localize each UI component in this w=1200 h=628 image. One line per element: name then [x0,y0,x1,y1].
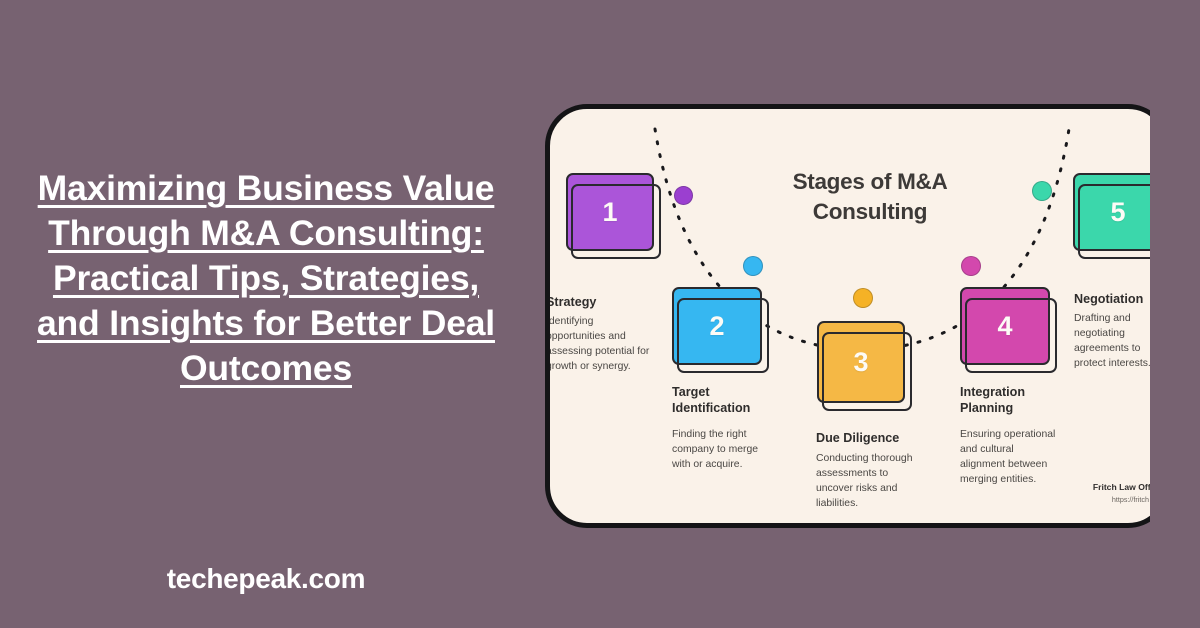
stage-box-3: 3 [817,321,905,403]
stage-desc-3: Conducting thorough assessments to uncov… [816,451,918,511]
arc-dot-2 [743,256,763,276]
stage-number-5: 5 [1110,197,1125,228]
stage-label-1: Strategy [546,294,656,310]
stage-desc-4: Ensuring operational and cultural alignm… [960,427,1060,487]
infographic-title: Stages of M&A Consulting [750,167,990,227]
site-name-label: techepeak.com [18,563,514,595]
stage-label-3: Due Diligence [816,430,926,446]
stage-desc-2: Finding the right company to merge with … [672,427,772,472]
arc-dot-3 [853,288,873,308]
stage-number-3: 3 [853,347,868,378]
stage-box-1: 1 [566,173,654,251]
arc-dot-4 [961,256,981,276]
infographic-container: Stages of M&A Consulting 1 Strategy Iden… [540,104,1150,528]
stage-desc-5: Drafting and negotiating agreements to p… [1074,311,1150,371]
stage-number-1: 1 [602,197,617,228]
stage-box-5: 5 [1073,173,1150,251]
page-title: Maximizing Business Value Through M&A Co… [18,166,514,391]
infographic-card: Stages of M&A Consulting 1 Strategy Iden… [545,104,1150,528]
stage-box-2: 2 [672,287,762,365]
stage-number-2: 2 [709,311,724,342]
stage-number-4: 4 [997,311,1012,342]
title-pane: Maximizing Business Value Through M&A Co… [0,0,530,628]
watermark-company: Fritch Law Offi [1093,482,1150,492]
stage-box-4: 4 [960,287,1050,365]
arc-dot-5 [1032,181,1052,201]
watermark-url: https://fritch [1112,495,1149,504]
stage-label-5: Negotiation [1074,291,1150,307]
stage-label-2: Target Identification [672,384,764,416]
stage-desc-1: Identifying opportunities and assessing … [546,314,652,374]
arc-dot-1 [674,186,693,205]
stage-label-4: Integration Planning [960,384,1052,416]
